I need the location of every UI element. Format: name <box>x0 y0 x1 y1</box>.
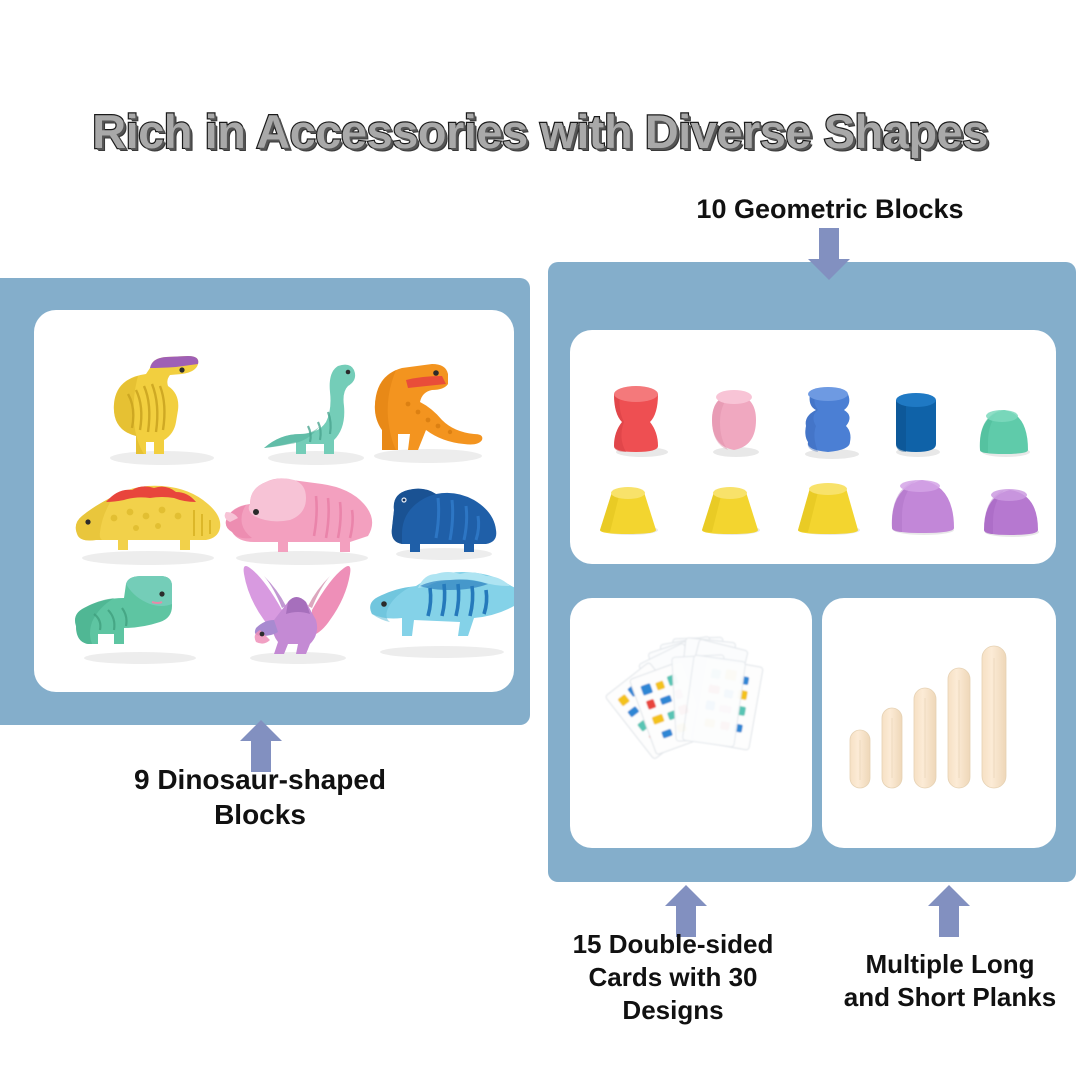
card-dinosaur-blocks <box>34 310 514 692</box>
dino-triceratops <box>214 458 384 568</box>
arrow-down-geometric <box>808 228 850 280</box>
geo-block-dome-purple-2 <box>978 480 1046 538</box>
geo-block-ridged-blue <box>796 380 864 460</box>
page-title: Rich in Accessories with Diverse Shapes <box>0 104 1080 159</box>
geometric-blocks-grid <box>570 330 1056 564</box>
geo-block-trapezoid-yellow-3 <box>792 476 868 536</box>
geo-block-dome-purple-1 <box>886 470 962 536</box>
label-dinosaur-blocks: 9 Dinosaur-shaped Blocks <box>40 762 480 833</box>
label-geometric-blocks: 10 Geometric Blocks <box>620 192 1040 226</box>
card-geometric-blocks <box>570 330 1056 564</box>
dinosaur-grid <box>34 310 514 692</box>
geo-block-hourglass-red <box>606 382 670 458</box>
dino-stegosaurus <box>62 462 232 567</box>
dino-parasaurolophus <box>92 348 222 468</box>
pattern-cards-fan <box>570 598 812 848</box>
dino-ankylosaurus <box>382 468 507 563</box>
label-planks: Multiple Long and Short Planks <box>820 948 1080 1014</box>
plank-shapes <box>850 646 1006 788</box>
planks-group <box>822 598 1056 848</box>
dino-plesiosaurus <box>68 572 213 667</box>
dino-tyrannosaurus <box>356 346 496 466</box>
dino-pteranodon <box>230 558 365 668</box>
geo-block-dome-teal <box>974 402 1036 458</box>
infographic-root: Rich in Accessories with Diverse Shapes <box>0 0 1080 1080</box>
card-planks <box>822 598 1056 848</box>
label-pattern-cards: 15 Double-sided Cards with 30 Designs <box>548 928 798 1026</box>
card-pattern-cards <box>570 598 812 848</box>
geo-block-cylinder-darkblue <box>888 386 946 458</box>
geo-block-trapezoid-yellow-1 <box>594 480 666 536</box>
arrow-up-planks <box>928 885 970 937</box>
geo-block-oval-pink <box>704 384 766 458</box>
dino-spinosaurus <box>362 562 514 662</box>
geo-block-trapezoid-yellow-2 <box>696 480 768 536</box>
